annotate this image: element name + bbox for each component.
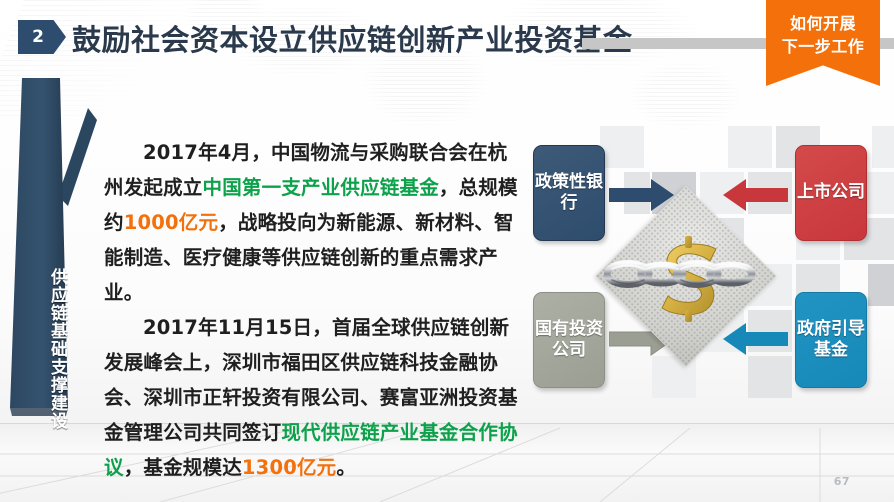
node-gov-guide-fund[interactable]: 政府引导基金 xyxy=(795,292,867,388)
next-steps-ribbon[interactable]: 如何开展 下一步工作 xyxy=(766,0,880,86)
hub-artwork xyxy=(604,212,768,340)
p2-seg2: ，基金规模达 xyxy=(124,456,242,479)
paragraph-1: 2017年4月，中国物流与采购联合会在杭州发起成立中国第一支产业供应链基金，总规… xyxy=(104,135,524,310)
sidebar-y-post: 供应链基础支撑建设 xyxy=(0,78,100,456)
slide-canvas: 2 鼓励社会资本设立供应链创新产业投资基金 如何开展 下一步工作 供应链基础支撑… xyxy=(0,0,894,502)
ribbon-line-1: 如何开展 xyxy=(766,13,880,36)
p1-highlight-green: 中国第一支产业供应链基金 xyxy=(203,176,439,199)
sidebar-item-label: 供应链基础支撑建设 xyxy=(40,268,66,430)
body-text: 2017年4月，中国物流与采购联合会在杭州发起成立中国第一支产业供应链基金，总规… xyxy=(104,135,524,485)
p2-highlight-orange: 1300亿元 xyxy=(242,456,336,479)
arrow-gov-guide-fund-to-hub xyxy=(722,322,788,356)
page-number: 67 xyxy=(834,475,850,488)
node-soe-investment[interactable]: 国有投资公司 xyxy=(533,292,605,388)
p2-seg3: 。 xyxy=(336,456,356,479)
arrow-listed-company-to-hub xyxy=(722,178,788,212)
paragraph-2: 2017年11月15日，首届全球供应链创新发展峰会上，深圳市福田区供应链科技金融… xyxy=(104,310,524,485)
ribbon-line-2: 下一步工作 xyxy=(766,36,880,59)
node-listed-company[interactable]: 上市公司 xyxy=(795,145,867,241)
node-policy-bank[interactable]: 政策性银行 xyxy=(533,145,605,241)
section-number-badge: 2 xyxy=(18,20,66,54)
p1-highlight-orange: 1000亿元 xyxy=(124,211,218,234)
page-title: 鼓励社会资本设立供应链创新产业投资基金 xyxy=(72,17,633,59)
